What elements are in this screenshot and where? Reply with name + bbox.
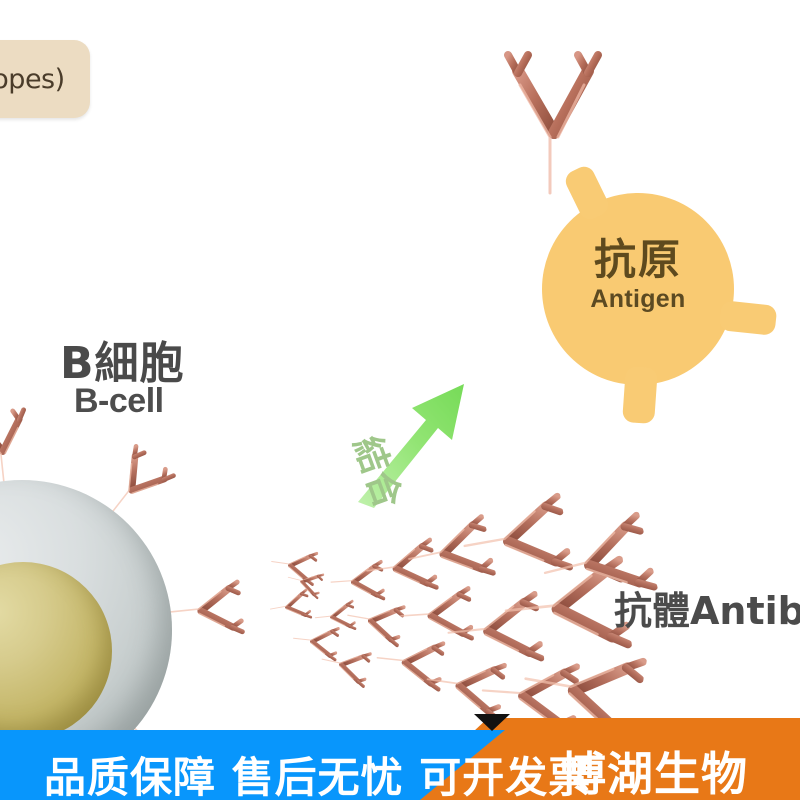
bottom-banner: 品质保障 售后无忧 可开发票 博湖生物 — [0, 714, 800, 800]
bcr-top — [0, 406, 39, 490]
antibody-label: 抗體Antibo — [614, 580, 800, 635]
epitope-nub-bottom — [622, 366, 658, 424]
diagram-canvas: Epitopes) — [0, 0, 800, 800]
antigen-group: 抗原 Antigen — [520, 175, 800, 450]
banner-slogan: 品质保障 售后无忧 可开发票 — [44, 744, 591, 800]
epitope-callout-label: Epitopes) — [0, 64, 92, 95]
epitope-nub-right — [719, 300, 778, 336]
banner-notch-icon — [474, 714, 510, 731]
bcell-label-en: B-cell — [74, 382, 164, 421]
banner-brand: 博湖生物 — [560, 738, 748, 800]
antigen-body — [542, 193, 734, 385]
antibody-icon — [314, 639, 372, 692]
bcr-right — [162, 574, 246, 647]
bound-antibody-icon — [484, 47, 624, 197]
antibody-swarm — [270, 470, 610, 690]
